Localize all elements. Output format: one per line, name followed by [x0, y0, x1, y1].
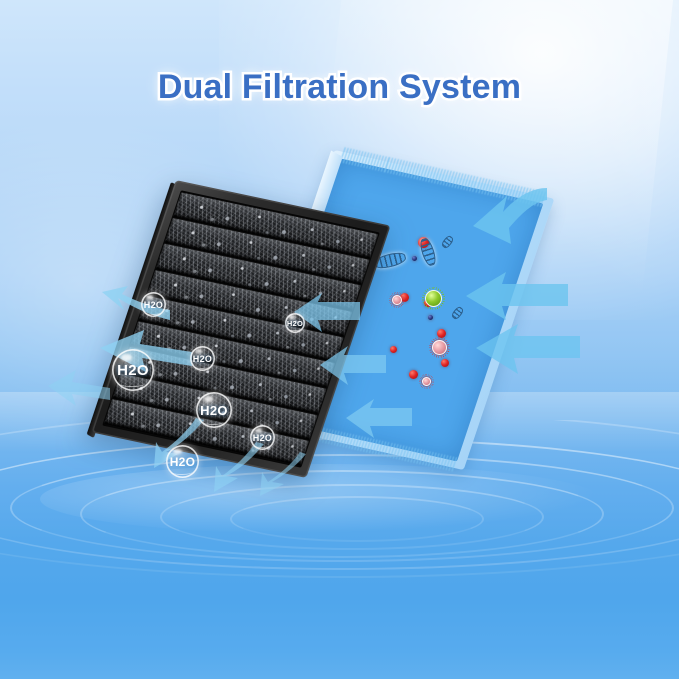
virus-icon — [432, 340, 447, 355]
water-outflow-arrow — [256, 452, 310, 498]
h2o-bubble: H2O — [285, 313, 305, 333]
virus-icon — [422, 377, 431, 386]
algae-cell-icon — [425, 290, 442, 307]
water-outflow-arrow — [46, 368, 112, 408]
h2o-bubble-label: H2O — [200, 403, 228, 418]
h2o-bubble: H2O — [112, 349, 154, 391]
h2o-bubble: H2O — [190, 346, 215, 371]
h2o-bubble: H2O — [166, 445, 199, 478]
h2o-bubble-label: H2O — [193, 354, 212, 364]
microbe-particle-icon — [428, 315, 433, 320]
h2o-bubble: H2O — [250, 425, 275, 450]
water-inflow-arrow — [455, 186, 550, 258]
infographic-canvas: Dual Filtration System — [0, 0, 679, 679]
h2o-bubble-label: H2O — [253, 433, 272, 443]
water-inflow-arrow — [462, 272, 570, 324]
water-flow-arrow-interior — [318, 345, 388, 387]
h2o-bubble: H2O — [141, 292, 166, 317]
filter-illustration: H2OH2OH2OH2OH2OH2OH2O — [0, 0, 679, 560]
steps-section: 1Filter sediment & impurities.keep water… — [0, 556, 679, 679]
h2o-bubble-label: H2O — [170, 455, 196, 469]
h2o-bubble-label: H2O — [287, 319, 303, 328]
h2o-bubble-label: H2O — [144, 300, 163, 310]
microbe-particle-icon — [412, 256, 417, 261]
virus-icon — [392, 295, 402, 305]
h2o-bubble: H2O — [196, 392, 232, 428]
h2o-bubble-label: H2O — [117, 362, 149, 379]
microbe-particle-icon — [409, 370, 418, 379]
microbe-particle-icon — [441, 359, 449, 367]
water-inflow-arrow — [472, 322, 582, 376]
microbe-particle-icon — [390, 346, 397, 353]
water-flow-arrow-interior — [344, 398, 414, 440]
